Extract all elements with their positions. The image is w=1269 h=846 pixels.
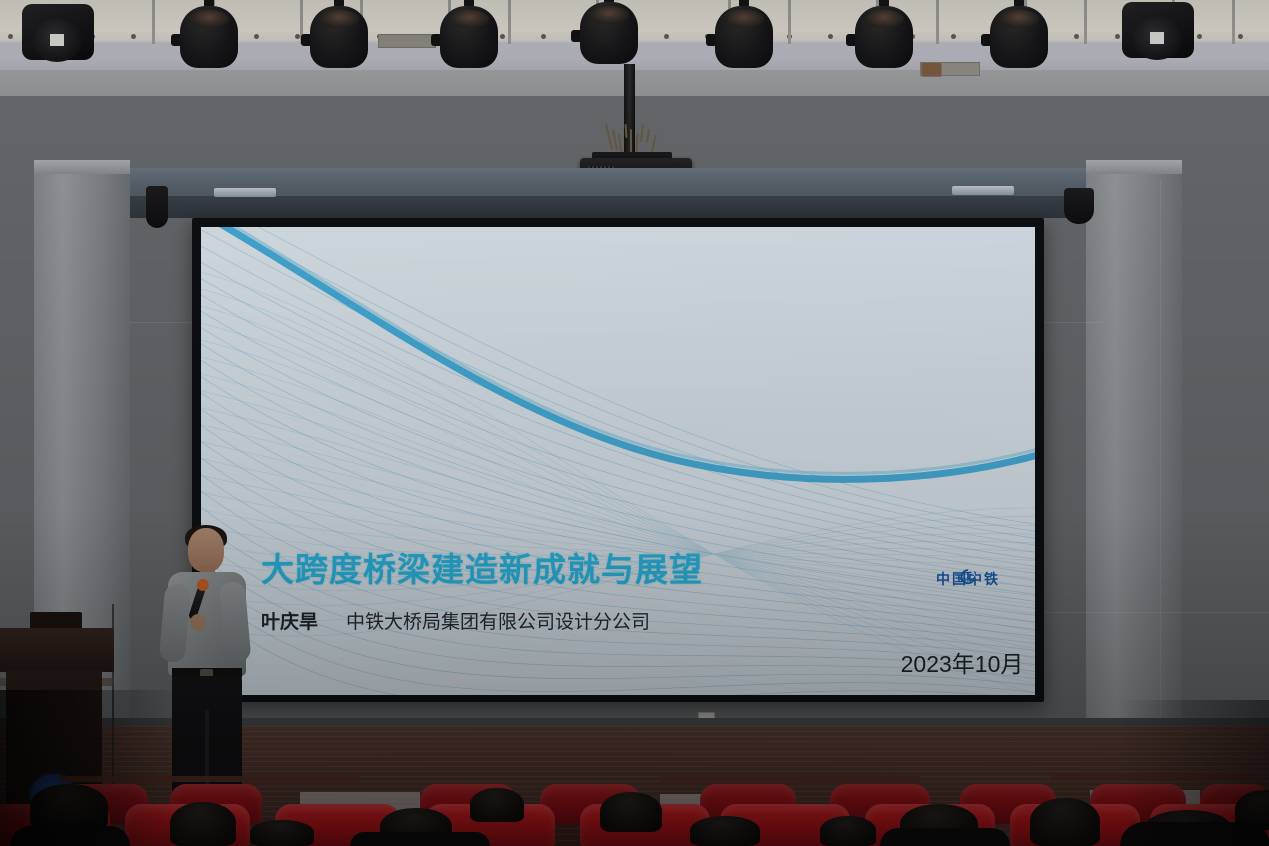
slide-byline: 叶庆旱 中铁大桥局集团有限公司设计分公司 bbox=[261, 607, 650, 634]
audience-member-head bbox=[470, 788, 524, 822]
mover-lens bbox=[1150, 32, 1164, 44]
light-body bbox=[715, 6, 773, 68]
vignette-right bbox=[1119, 700, 1269, 846]
wall-seam-1 bbox=[130, 322, 200, 323]
light-lens bbox=[864, 10, 904, 28]
light-lens bbox=[589, 6, 629, 24]
slide-presenter-name: 叶庆旱 bbox=[261, 607, 318, 634]
wall-pillar-cap-right bbox=[1086, 160, 1182, 174]
wall-seam-2 bbox=[1042, 322, 1102, 323]
truss-rod bbox=[936, 0, 939, 44]
light-body bbox=[990, 6, 1048, 68]
wall-speaker-right bbox=[1064, 188, 1094, 224]
screen-soffit-face bbox=[34, 196, 1180, 218]
vignette-left bbox=[0, 690, 180, 846]
audience-member-head bbox=[1030, 798, 1100, 846]
audience-member-head bbox=[690, 816, 760, 846]
audience-member-head bbox=[820, 816, 876, 846]
audience-member-shoulders bbox=[880, 828, 1010, 846]
wall-pillar-right bbox=[1086, 168, 1182, 728]
soffit-downlight-right bbox=[952, 186, 1014, 195]
light-lens bbox=[724, 10, 764, 28]
light-body bbox=[310, 6, 368, 68]
audience-member-shoulders bbox=[350, 832, 490, 846]
slide-organization: 中铁大桥局集团有限公司设计分公司 bbox=[346, 607, 650, 634]
auditorium-photo: 大跨度桥梁建造新成就与展望 叶庆旱 中铁大桥局集团有限公司设计分公司 REC 中… bbox=[0, 0, 1269, 846]
presenter-hand bbox=[190, 614, 206, 631]
light-lens bbox=[189, 10, 229, 28]
slide-content: 大跨度桥梁建造新成就与展望 叶庆旱 中铁大桥局集团有限公司设计分公司 REC 中… bbox=[201, 227, 1035, 695]
light-lens bbox=[319, 10, 359, 28]
light-lens bbox=[999, 10, 1039, 28]
truss-rod bbox=[508, 0, 511, 44]
wall-seam-3 bbox=[1040, 612, 1269, 613]
seat-row-rail bbox=[660, 776, 920, 782]
ceiling-vent-left bbox=[378, 34, 436, 48]
wall-pillar-cap-left bbox=[34, 160, 130, 174]
audience-member-head bbox=[250, 820, 314, 846]
light-body bbox=[580, 2, 638, 64]
truss-rod bbox=[1084, 0, 1087, 44]
truss-rod bbox=[1232, 0, 1235, 44]
slide-title: 大跨度桥梁建造新成就与展望 bbox=[261, 543, 703, 591]
light-body bbox=[440, 6, 498, 68]
presenter-right-arm bbox=[219, 581, 252, 663]
ceiling-cup bbox=[921, 62, 942, 77]
projection-screen[interactable]: 大跨度桥梁建造新成就与展望 叶庆旱 中铁大桥局集团有限公司设计分公司 REC 中… bbox=[201, 227, 1035, 695]
mover-lens bbox=[50, 34, 64, 46]
lectern-top bbox=[0, 628, 114, 672]
audience-seating bbox=[0, 782, 1269, 846]
svg-text:REC: REC bbox=[963, 579, 974, 585]
soffit-downlight-left bbox=[214, 188, 276, 197]
truss-rod bbox=[788, 0, 791, 44]
light-body bbox=[180, 6, 238, 68]
truss-rod bbox=[152, 0, 155, 44]
wall-speaker-left bbox=[146, 186, 168, 228]
light-lens bbox=[449, 10, 489, 28]
slide-date: 2023年10月 bbox=[877, 645, 1035, 679]
audience-member-head bbox=[600, 792, 662, 832]
crec-logo: REC 中国中铁 bbox=[913, 567, 1023, 589]
wall-seam-vertical bbox=[1160, 180, 1161, 720]
light-body bbox=[855, 6, 913, 68]
crec-globe-icon: REC bbox=[913, 567, 1023, 589]
